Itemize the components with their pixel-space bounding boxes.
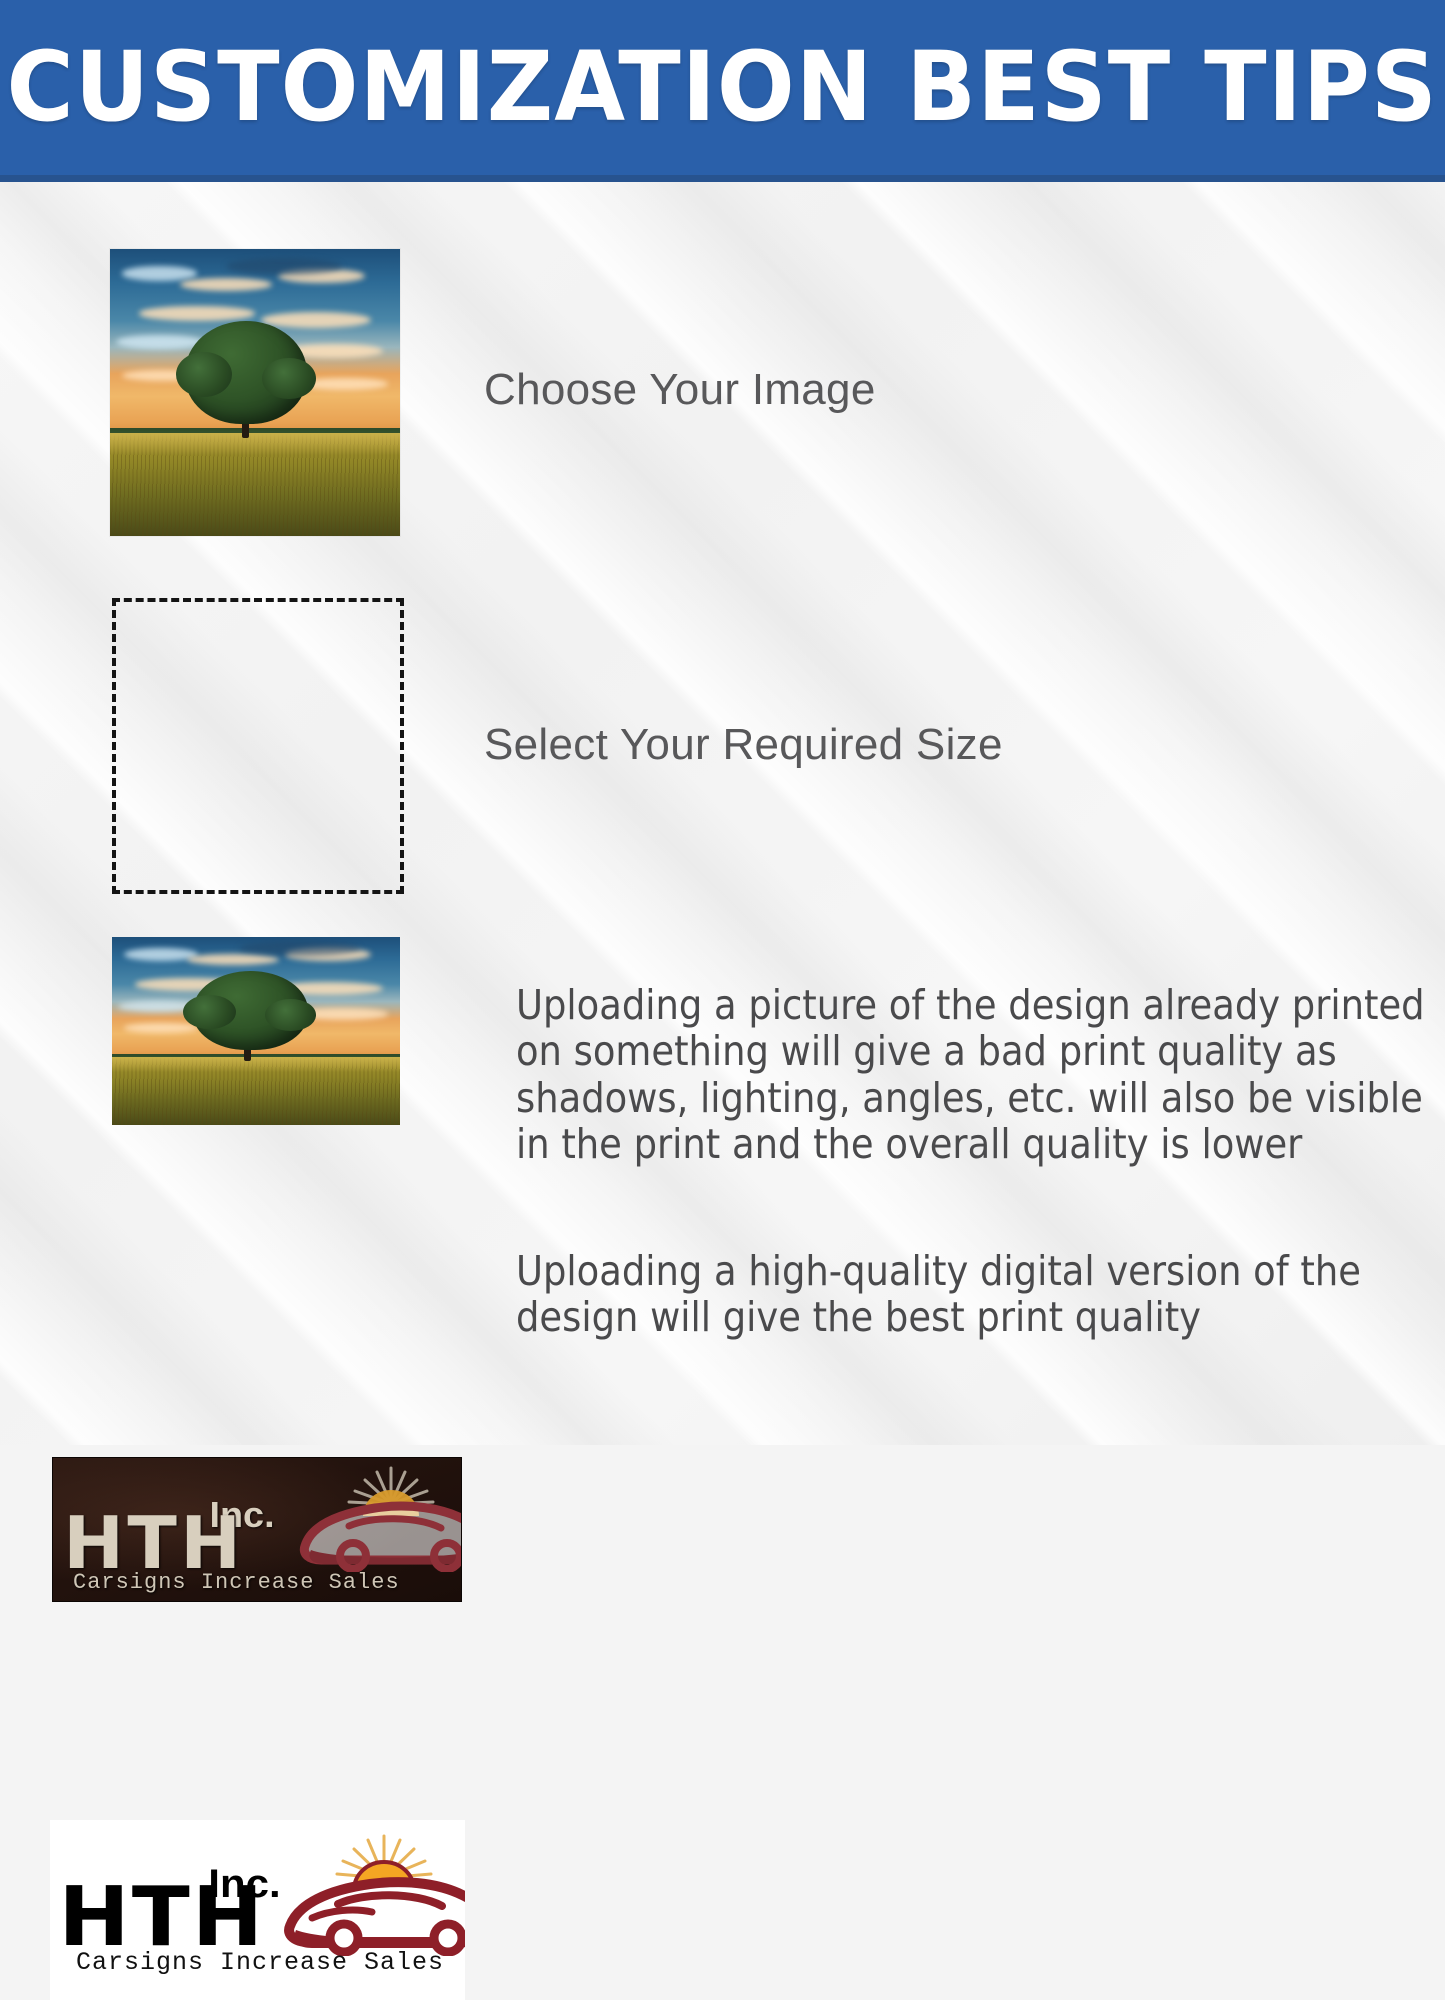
logo-brand: HTH [63,1510,244,1576]
paragraph-line: Uploading a high-quality digital version… [516,1248,1361,1294]
cloud-icon [226,258,342,275]
cloud-icon [122,266,197,280]
header-banner: CUSTOMIZATION BEST TIPS [0,0,1445,182]
wheat-field [112,1057,400,1125]
paragraph-line: shadows, lighting, angles, etc. will als… [516,1075,1425,1121]
step-4-image-digital-logo[interactable]: Inc. HTH Carsigns Increase Sales [50,1820,465,2000]
step-4-paragraph: Uploading a high-quality digital version… [516,1248,1361,1341]
cloud-icon [180,278,273,291]
step-3-paragraph: Uploading a picture of the design alread… [516,982,1425,1167]
cloud-icon [124,1023,199,1032]
car-icon [282,1860,465,1956]
car-icon [297,1486,462,1572]
step-1-image-square[interactable] [110,249,400,536]
wheat-field [110,433,400,536]
cloud-icon [261,312,371,328]
crop-frame-dashed[interactable] [112,598,404,894]
page-title: CUSTOMIZATION BEST TIPS [7,39,1438,143]
cloud-icon [239,941,360,956]
logo-brand: HTH [59,1880,266,1955]
paragraph-line: on something will give a bad print quali… [516,1028,1425,1074]
paragraph-line: Uploading a picture of the design alread… [516,982,1425,1028]
tree-canopy [193,971,308,1050]
step-3-image-photographed-sign[interactable]: Inc. HTH Carsigns Increase Sales [52,1457,462,1602]
logo-tagline: Carsigns Increase Sales [76,1948,444,1977]
logo-tagline: Carsigns Increase Sales [73,1570,400,1595]
tree-canopy [185,321,307,424]
step-2-label: Select Your Required Size [484,720,1003,770]
paragraph-line: in the print and the overall quality is … [516,1121,1425,1167]
paragraph-line: design will give the best print quality [516,1294,1361,1340]
step-2-image-cropped[interactable] [112,937,400,1125]
cloud-icon [139,306,255,320]
step-1-label: Choose Your Image [484,365,876,415]
